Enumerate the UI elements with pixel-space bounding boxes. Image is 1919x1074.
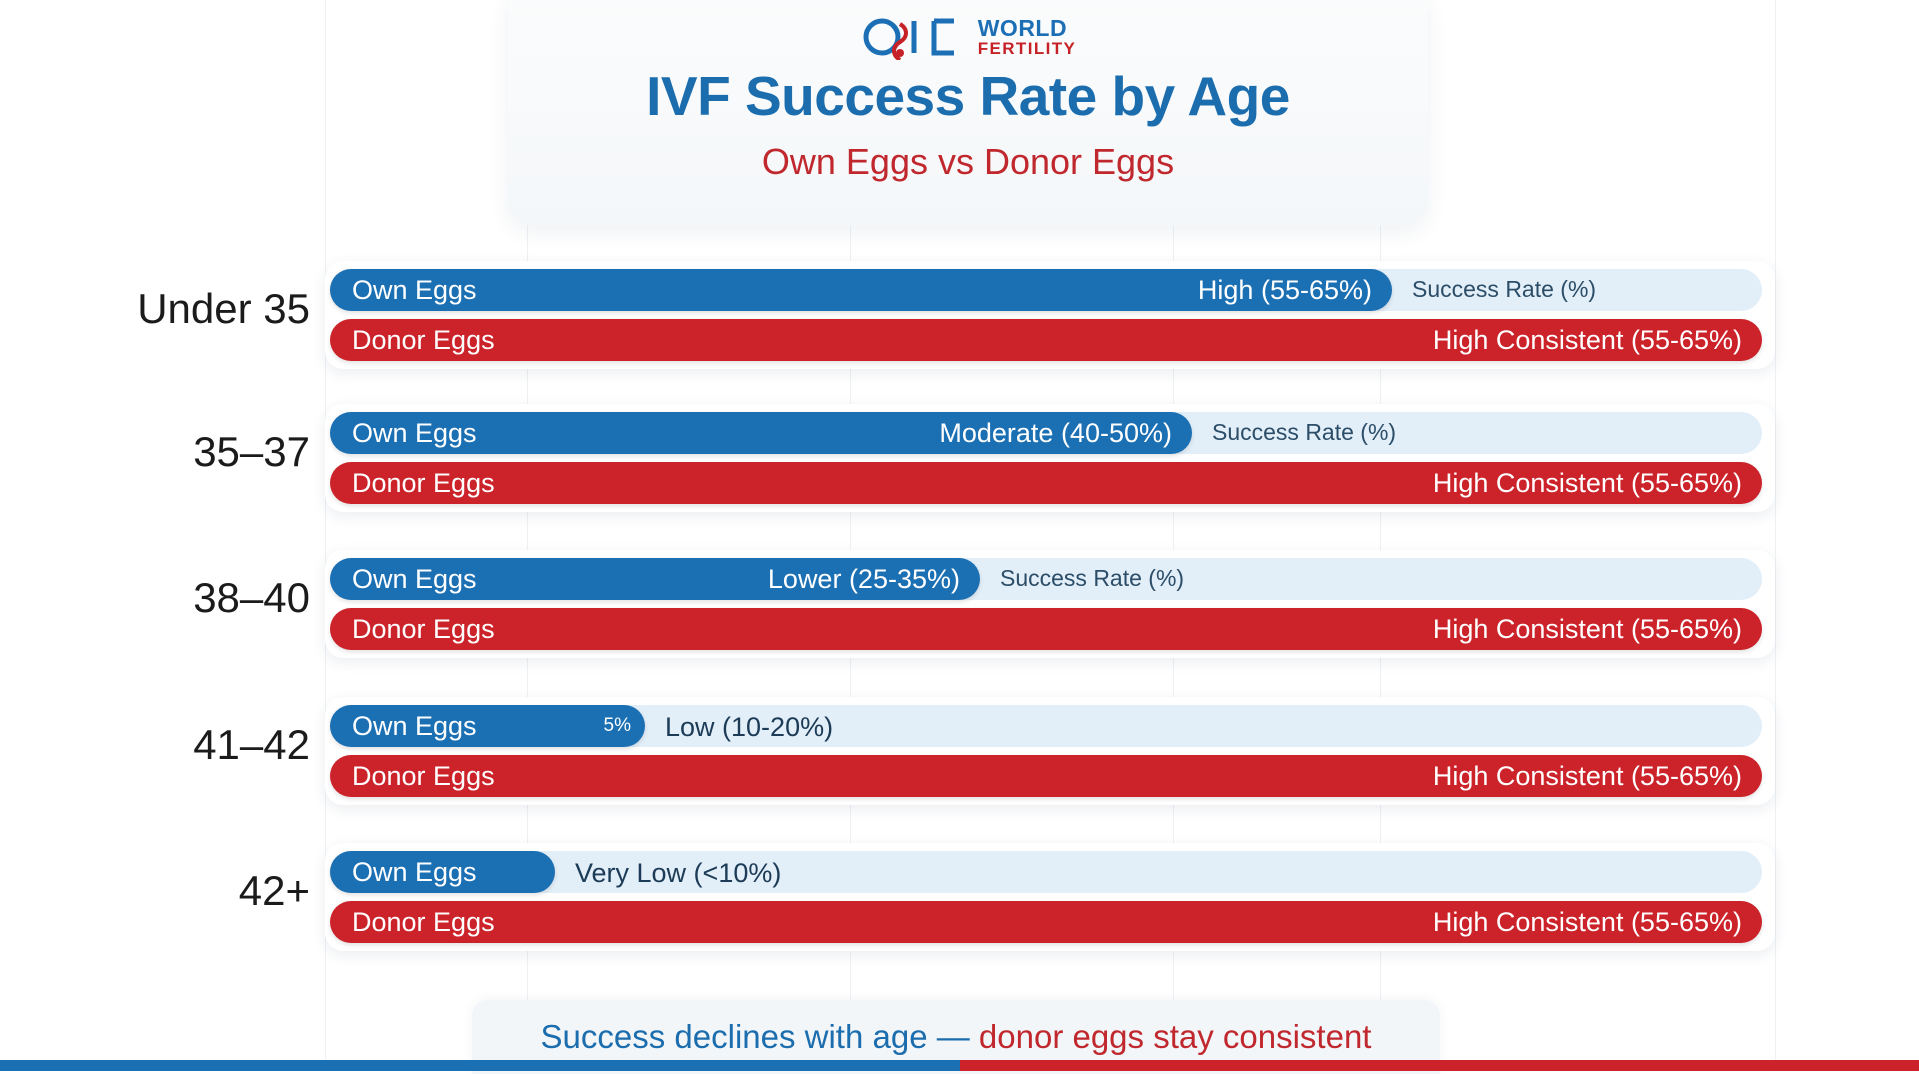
logo-wordmark: WORLD FERTILITY (978, 17, 1077, 58)
donor-eggs-track: Donor Eggs High Consistent (55-65%) (330, 319, 1762, 361)
donor-eggs-bar[interactable]: Donor Eggs High Consistent (55-65%) (330, 319, 1762, 361)
bottom-accent-bar (0, 1060, 1919, 1071)
donor-eggs-bar-value: High Consistent (55-65%) (1433, 614, 1742, 645)
donor-eggs-track: Donor Eggs High Consistent (55-65%) (330, 755, 1762, 797)
own-eggs-track: Own Eggs Very Low (<10%) (330, 851, 1762, 893)
own-eggs-bar[interactable]: Own Eggs (330, 851, 555, 893)
own-eggs-outside-label: Very Low (<10%) (575, 858, 781, 889)
donor-eggs-bar-value: High Consistent (55-65%) (1433, 761, 1742, 792)
axis-note: Success Rate (%) (1000, 565, 1184, 592)
donor-eggs-bar-label: Donor Eggs (352, 761, 495, 792)
donor-eggs-bar-value: High Consistent (55-65%) (1433, 907, 1742, 938)
age-group-label: Under 35 (60, 279, 310, 339)
brand-logo: WORLD FERTILITY (508, 10, 1428, 64)
own-eggs-track: Own Eggs 5% Low (10-20%) (330, 705, 1762, 747)
donor-eggs-track: Donor Eggs High Consistent (55-65%) (330, 608, 1762, 650)
age-group-label: 41–42 (60, 715, 310, 775)
donor-eggs-track: Donor Eggs High Consistent (55-65%) (330, 462, 1762, 504)
chart-row: 41–42 Own Eggs 5% Low (10-20%) Donor Egg… (0, 691, 1919, 811)
own-eggs-track: Own Eggs High (55-65%) Success Rate (%) (330, 269, 1762, 311)
logo-word-world: WORLD (978, 17, 1077, 40)
own-eggs-bar-label: Own Eggs (352, 711, 477, 742)
donor-eggs-bar-label: Donor Eggs (352, 614, 495, 645)
page-subtitle: Own Eggs vs Donor Eggs (508, 141, 1428, 183)
page-title: IVF Success Rate by Age (508, 64, 1428, 128)
chart-row: 42+ Own Eggs Very Low (<10%) Donor Eggs … (0, 837, 1919, 957)
footer-note-blue: Success declines with age — (541, 1018, 970, 1055)
chart-row: 38–40 Own Eggs Lower (25-35%) Success Ra… (0, 544, 1919, 664)
header-card: WORLD FERTILITY IVF Success Rate by Age … (508, 0, 1428, 226)
own-eggs-bar[interactable]: Own Eggs Moderate (40-50%) (330, 412, 1192, 454)
donor-eggs-bar-label: Donor Eggs (352, 325, 495, 356)
donor-eggs-bar-label: Donor Eggs (352, 468, 495, 499)
age-group-label: 38–40 (60, 568, 310, 628)
axis-note: Success Rate (%) (1212, 419, 1396, 446)
own-eggs-bar-label: Own Eggs (352, 275, 477, 306)
own-eggs-bar-value: Lower (25-35%) (768, 564, 960, 595)
own-eggs-bar-value: High (55-65%) (1198, 275, 1372, 306)
donor-eggs-bar-value: High Consistent (55-65%) (1433, 468, 1742, 499)
age-group-label: 42+ (60, 861, 310, 921)
donor-eggs-bar-value: High Consistent (55-65%) (1433, 325, 1742, 356)
own-eggs-bar[interactable]: Own Eggs High (55-65%) (330, 269, 1392, 311)
logo-word-fertility: FERTILITY (978, 40, 1077, 57)
donor-eggs-bar-label: Donor Eggs (352, 907, 495, 938)
own-eggs-bar-label: Own Eggs (352, 418, 477, 449)
footer-note-red: donor eggs stay consistent (970, 1018, 1372, 1055)
bottom-accent-blue (0, 1060, 960, 1071)
own-eggs-bar-label: Own Eggs (352, 857, 477, 888)
donor-eggs-bar[interactable]: Donor Eggs High Consistent (55-65%) (330, 901, 1762, 943)
chart-row: 35–37 Own Eggs Moderate (40-50%) Success… (0, 398, 1919, 518)
axis-note: Success Rate (%) (1412, 276, 1596, 303)
own-eggs-bar-label: Own Eggs (352, 564, 477, 595)
own-eggs-bar[interactable]: Own Eggs Lower (25-35%) (330, 558, 980, 600)
chart-row: Under 35 Own Eggs High (55-65%) Success … (0, 255, 1919, 375)
bottom-accent-red (960, 1060, 1919, 1071)
donor-eggs-bar[interactable]: Donor Eggs High Consistent (55-65%) (330, 462, 1762, 504)
one-world-fertility-logo-icon (860, 14, 970, 60)
donor-eggs-bar[interactable]: Donor Eggs High Consistent (55-65%) (330, 755, 1762, 797)
donor-eggs-track: Donor Eggs High Consistent (55-65%) (330, 901, 1762, 943)
own-eggs-bar-value: Moderate (40-50%) (939, 418, 1172, 449)
own-eggs-track: Own Eggs Lower (25-35%) Success Rate (%) (330, 558, 1762, 600)
donor-eggs-bar[interactable]: Donor Eggs High Consistent (55-65%) (330, 608, 1762, 650)
own-eggs-bar[interactable]: Own Eggs 5% (330, 705, 645, 747)
age-group-label: 35–37 (60, 422, 310, 482)
footer-note: Success declines with age — donor eggs s… (541, 1018, 1372, 1056)
own-eggs-bar-value: 5% (604, 715, 631, 737)
own-eggs-outside-label: Low (10-20%) (665, 712, 833, 743)
chart-area: Under 35 Own Eggs High (55-65%) Success … (0, 255, 1919, 995)
own-eggs-track: Own Eggs Moderate (40-50%) Success Rate … (330, 412, 1762, 454)
